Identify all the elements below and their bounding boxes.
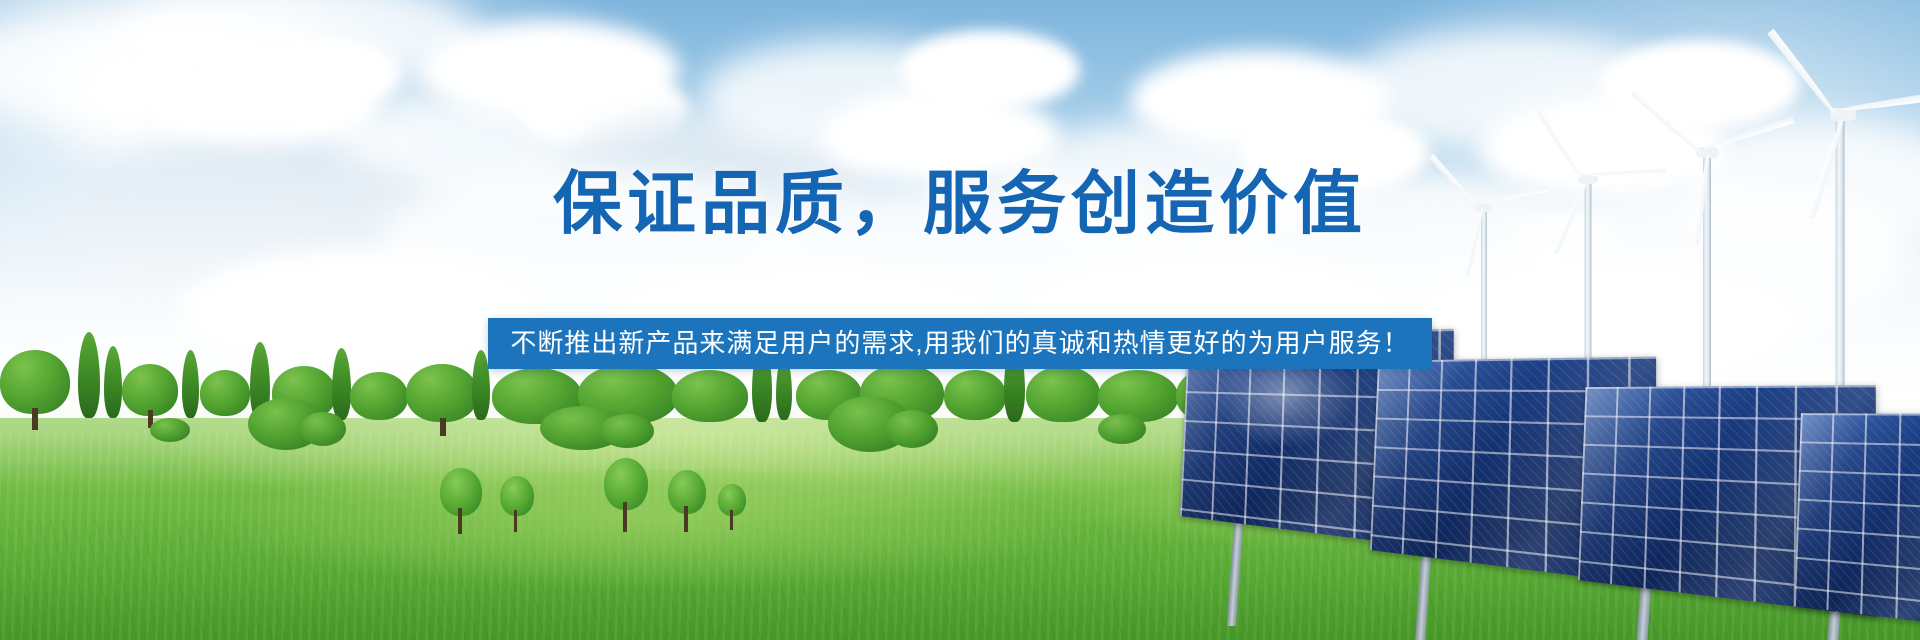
subtitle-bar-wrapper: 不断推出新产品来满足用户的需求,用我们的真诚和热情更好的为用户服务！: [0, 318, 1920, 369]
solar-panel: [1794, 413, 1920, 631]
subtitle-bar: 不断推出新产品来满足用户的需求,用我们的真诚和热情更好的为用户服务！: [488, 318, 1431, 369]
page-title: 保证品质，服务创造价值: [0, 166, 1920, 242]
hero-banner: 保证品质，服务创造价值 不断推出新产品来满足用户的需求,用我们的真诚和热情更好的…: [0, 0, 1920, 640]
grass-mound: [200, 470, 1100, 590]
